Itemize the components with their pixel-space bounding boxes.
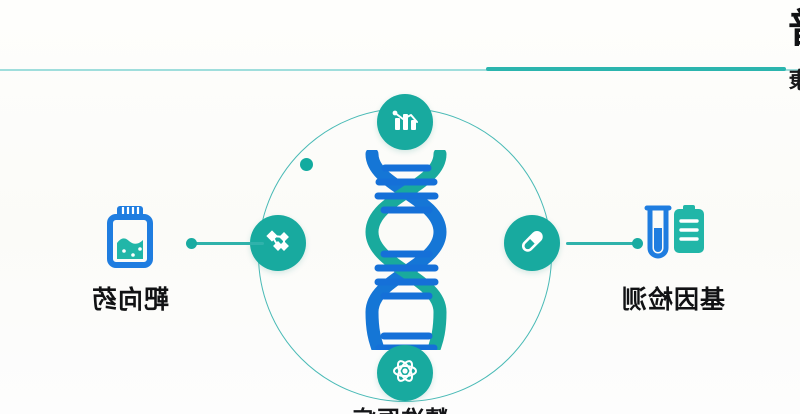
bar-chart-trend-icon [390, 105, 420, 140]
atom-icon [390, 356, 420, 391]
test-tube-clipboard-icon [598, 198, 748, 274]
orb-atom[interactable] [377, 345, 433, 401]
side-label-targeted-drug: 靶向药 [55, 280, 205, 316]
side-label-gene-testing: 基因检测 [598, 280, 748, 316]
page-subtitle: 解码基因·精准健康 [786, 63, 800, 95]
molecule-network-icon [263, 226, 293, 261]
header-accent-bar [486, 67, 786, 71]
side-item-gene-testing[interactable]: 基因检测 [598, 198, 748, 316]
orbit-node-dot [300, 158, 313, 171]
orb-capsule[interactable] [504, 215, 560, 271]
orb-bar-chart[interactable] [377, 94, 433, 150]
capsule-pill-icon [517, 226, 547, 261]
poster-canvas: 精准基因检科普 解码基因·精准健康 [0, 0, 800, 414]
side-item-targeted-drug[interactable]: 靶向药 [55, 198, 205, 316]
dna-helix-icon [338, 150, 474, 350]
medicine-bottle-icon [55, 198, 205, 274]
header-text-block: 精准基因检科普 解码基因·精准健康 [786, 4, 800, 95]
bottom-label: 精准医疗 [325, 400, 475, 414]
page-title: 精准基因检科普 [786, 4, 800, 54]
